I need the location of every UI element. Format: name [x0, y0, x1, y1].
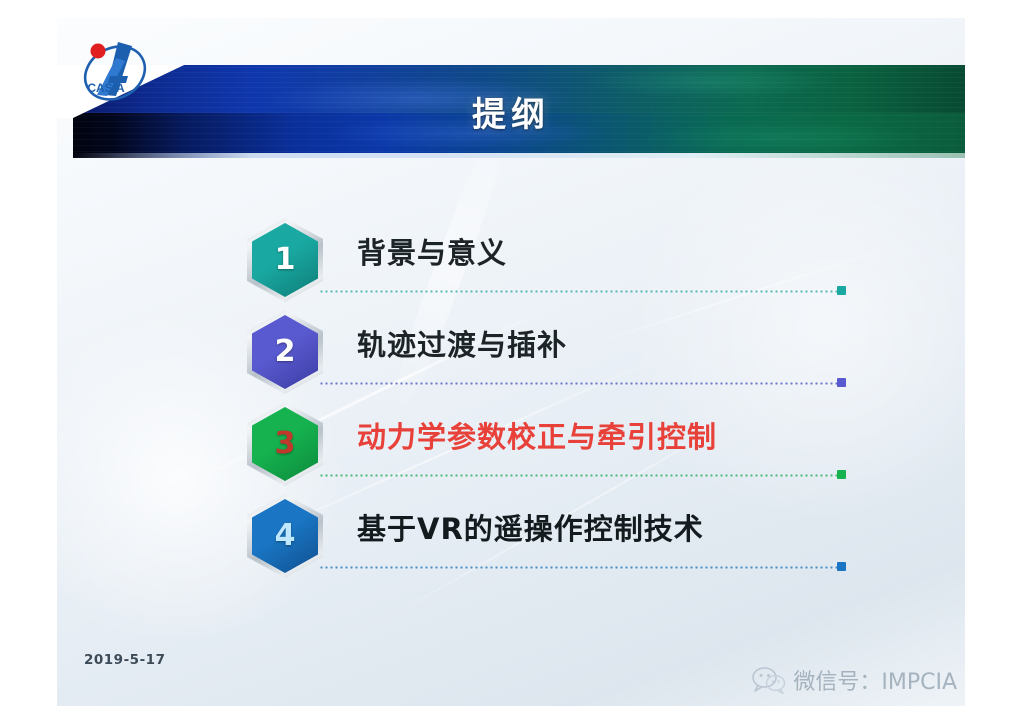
slide-date: 2019-5-17 — [84, 652, 165, 668]
slide-page: 提纲 1背景与意义2轨迹过渡与插补3动力学参数校正与牵引控制4基于VR的遥操作控… — [0, 0, 1024, 724]
hexagon-number: 3 — [275, 429, 296, 459]
casia-logo: CASIA — [72, 32, 158, 110]
hexagon-badge-4: 4 — [247, 494, 323, 578]
hexagon-face: 4 — [252, 499, 318, 573]
outline-list: 1背景与意义2轨迹过渡与插补3动力学参数校正与牵引控制4基于VR的遥操作控制技术 — [57, 18, 965, 706]
hexagon-badge-1: 1 — [247, 218, 323, 302]
hexagon-bevel: 1 — [247, 218, 323, 302]
casia-logo-text: CASIA — [87, 81, 125, 95]
slide-canvas: 提纲 1背景与意义2轨迹过渡与插补3动力学参数校正与牵引控制4基于VR的遥操作控… — [57, 18, 965, 706]
hexagon-bevel: 2 — [247, 310, 323, 394]
outline-item-4[interactable]: 4基于VR的遥操作控制技术 — [247, 494, 807, 586]
hexagon-number: 2 — [275, 337, 296, 367]
hexagon-face: 3 — [252, 407, 318, 481]
wechat-watermark: 微信号：IMPCIA — [752, 664, 957, 696]
hexagon-badge-2: 2 — [247, 310, 323, 394]
hexagon-number: 1 — [275, 245, 296, 275]
outline-item-3[interactable]: 3动力学参数校正与牵引控制 — [247, 402, 807, 494]
hexagon-bevel: 3 — [247, 402, 323, 486]
outline-item-dotted-rule — [319, 566, 837, 569]
hexagon-bevel: 4 — [247, 494, 323, 578]
outline-item-dotted-rule — [319, 382, 837, 385]
outline-item-label: 基于VR的遥操作控制技术 — [357, 506, 704, 548]
outline-item-end-marker — [837, 470, 846, 479]
hexagon-number: 4 — [275, 521, 296, 551]
outline-item-end-marker — [837, 286, 846, 295]
outline-item-label: 背景与意义 — [357, 230, 507, 272]
outline-item-label: 动力学参数校正与牵引控制 — [357, 414, 717, 456]
hexagon-badge-3: 3 — [247, 402, 323, 486]
outline-item-dotted-rule — [319, 474, 837, 477]
wechat-watermark-text: 微信号：IMPCIA — [793, 664, 957, 696]
outline-item-dotted-rule — [319, 290, 837, 293]
outline-item-end-marker — [837, 562, 846, 571]
outline-item-label: 轨迹过渡与插补 — [357, 322, 567, 364]
outline-item-2[interactable]: 2轨迹过渡与插补 — [247, 310, 807, 402]
outline-item-end-marker — [837, 378, 846, 387]
hexagon-face: 2 — [252, 315, 318, 389]
wechat-icon — [752, 667, 786, 694]
hexagon-face: 1 — [252, 223, 318, 297]
outline-item-1[interactable]: 1背景与意义 — [247, 218, 807, 310]
